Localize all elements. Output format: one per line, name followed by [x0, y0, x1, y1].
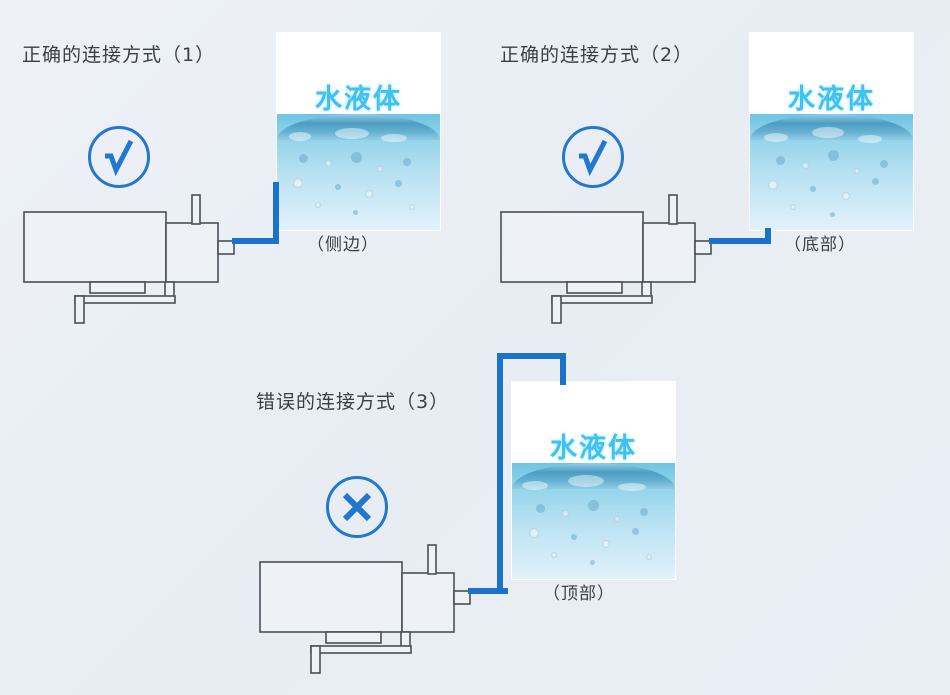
pump-base-2 [497, 285, 712, 325]
water-tank-3: 水液体 [512, 382, 675, 579]
panel-1-title: 正确的连接方式（1） [22, 40, 215, 67]
pipe-1-horizontal[interactable] [232, 238, 279, 244]
pipe-3-vertical-riser[interactable] [497, 353, 503, 594]
check-mark-icon [88, 126, 150, 188]
panel-3-caption: （顶部） [543, 579, 615, 604]
panel-2-caption: （底部） [784, 230, 856, 255]
cross-mark-icon [326, 476, 388, 538]
tank-label-1: 水液体 [277, 77, 440, 116]
pipe-3-horizontal-upper[interactable] [497, 353, 566, 359]
panel-2-title: 正确的连接方式（2） [500, 40, 693, 67]
pipe-3-vertical-downcomer[interactable] [560, 353, 566, 385]
diagram-canvas: 正确的连接方式（1） 水液体 [0, 0, 950, 695]
pipe-2-horizontal[interactable] [709, 238, 771, 244]
pump-base-3 [256, 635, 471, 675]
pipe-2-vertical[interactable] [765, 228, 771, 244]
pump-base-1 [20, 285, 235, 325]
water-tank-1: 水液体 [277, 33, 440, 230]
panel-1-caption: （侧边） [307, 230, 379, 255]
panel-3-title: 错误的连接方式（3） [256, 387, 449, 414]
water-tank-2: 水液体 [750, 33, 913, 230]
check-mark-icon [562, 126, 624, 188]
pipe-1-vertical[interactable] [273, 182, 279, 242]
tank-label-3: 水液体 [512, 426, 675, 465]
tank-label-2: 水液体 [750, 77, 913, 116]
